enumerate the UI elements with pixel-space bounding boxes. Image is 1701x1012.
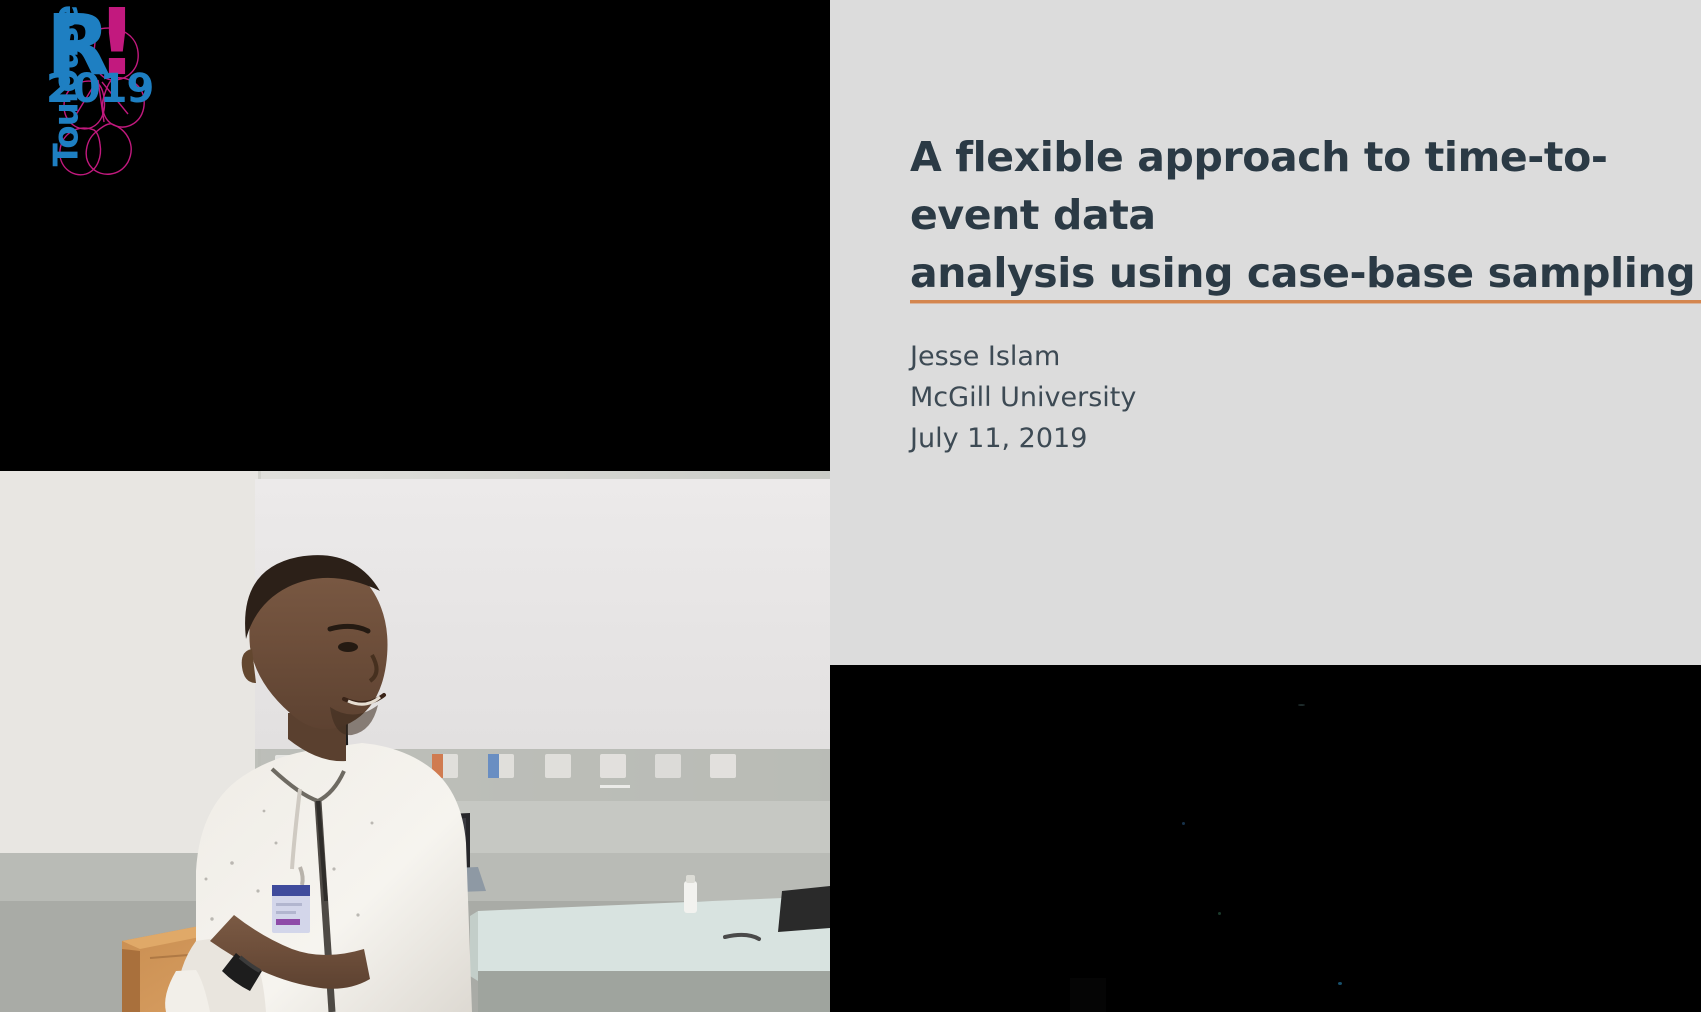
- slide-date: July 11, 2019: [910, 418, 1510, 459]
- screen-root: Toulouse R ! 2019: [0, 0, 1701, 1012]
- black-video-pane[interactable]: [830, 665, 1701, 1012]
- lens-speck: [1070, 978, 1106, 1012]
- slide-meta-block: Jesse Islam McGill University July 11, 2…: [910, 336, 1510, 459]
- conference-logo-video-pane[interactable]: Toulouse R ! 2019: [0, 0, 830, 513]
- slide-accent-rule: [910, 300, 1701, 303]
- speaker-photo: e: [0, 471, 830, 1012]
- logo-year: 2019: [46, 66, 153, 112]
- slide-title-line-1: A flexible approach to time-to-event dat…: [910, 128, 1701, 244]
- speaker-camera-video-pane[interactable]: e: [0, 471, 830, 1012]
- presentation-slide[interactable]: A flexible approach to time-to-event dat…: [830, 0, 1701, 665]
- lens-speck: [1338, 982, 1342, 985]
- video-column: Toulouse R ! 2019: [0, 0, 830, 1012]
- lens-speck: [1218, 912, 1221, 915]
- slide-title-line-2: analysis using case-base sampling: [910, 244, 1701, 302]
- slide-affiliation: McGill University: [910, 377, 1510, 418]
- lens-speck: [1182, 822, 1185, 825]
- slide-title: A flexible approach to time-to-event dat…: [910, 128, 1701, 302]
- slide-author: Jesse Islam: [910, 336, 1510, 377]
- lens-speck: [1298, 704, 1305, 706]
- toulouse-r-2019-logo: Toulouse R ! 2019: [8, 4, 148, 194]
